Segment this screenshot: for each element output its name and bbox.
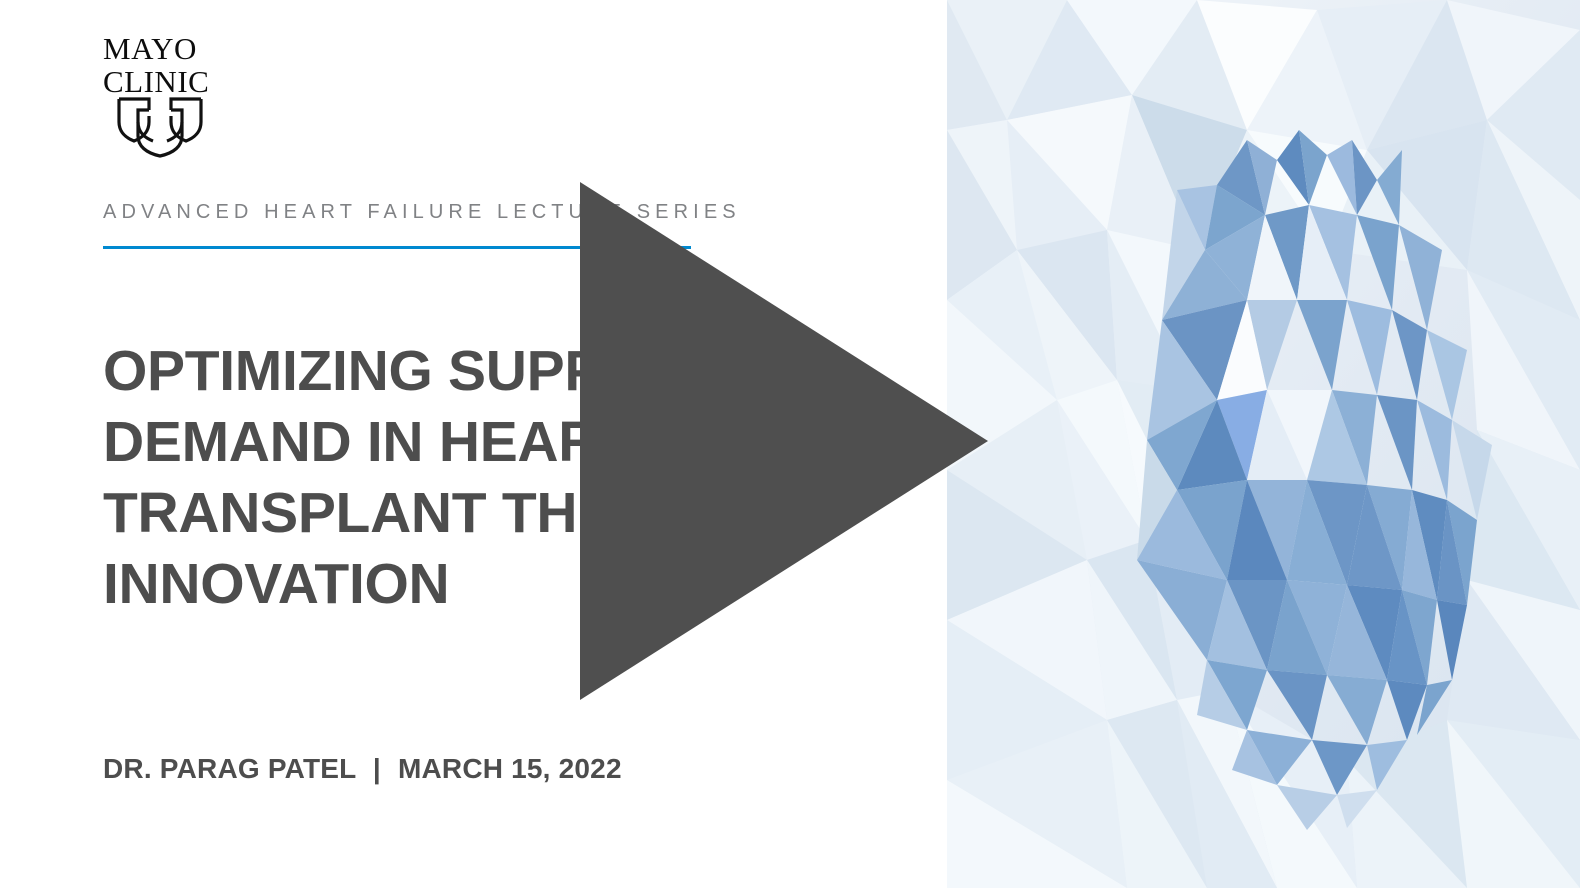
mayo-clinic-wordmark: MAYO CLINIC bbox=[103, 33, 283, 99]
mayo-three-shields-icon bbox=[116, 96, 204, 158]
presenter-name: DR. PARAG PATEL bbox=[103, 753, 356, 784]
byline-separator: | bbox=[364, 753, 390, 784]
logo-text-mayo: MAYO bbox=[103, 33, 283, 66]
play-triangle-icon bbox=[580, 182, 988, 700]
video-slide: MAYO CLINIC bbox=[0, 0, 1580, 888]
logo-text-clinic: CLINIC bbox=[103, 66, 283, 99]
mayo-clinic-logo: MAYO CLINIC bbox=[103, 33, 283, 168]
play-button[interactable] bbox=[580, 182, 988, 700]
presentation-date: MARCH 15, 2022 bbox=[398, 753, 622, 784]
presenter-and-date: DR. PARAG PATEL | MARCH 15, 2022 bbox=[103, 753, 622, 785]
hero-heart-image bbox=[947, 0, 1580, 888]
